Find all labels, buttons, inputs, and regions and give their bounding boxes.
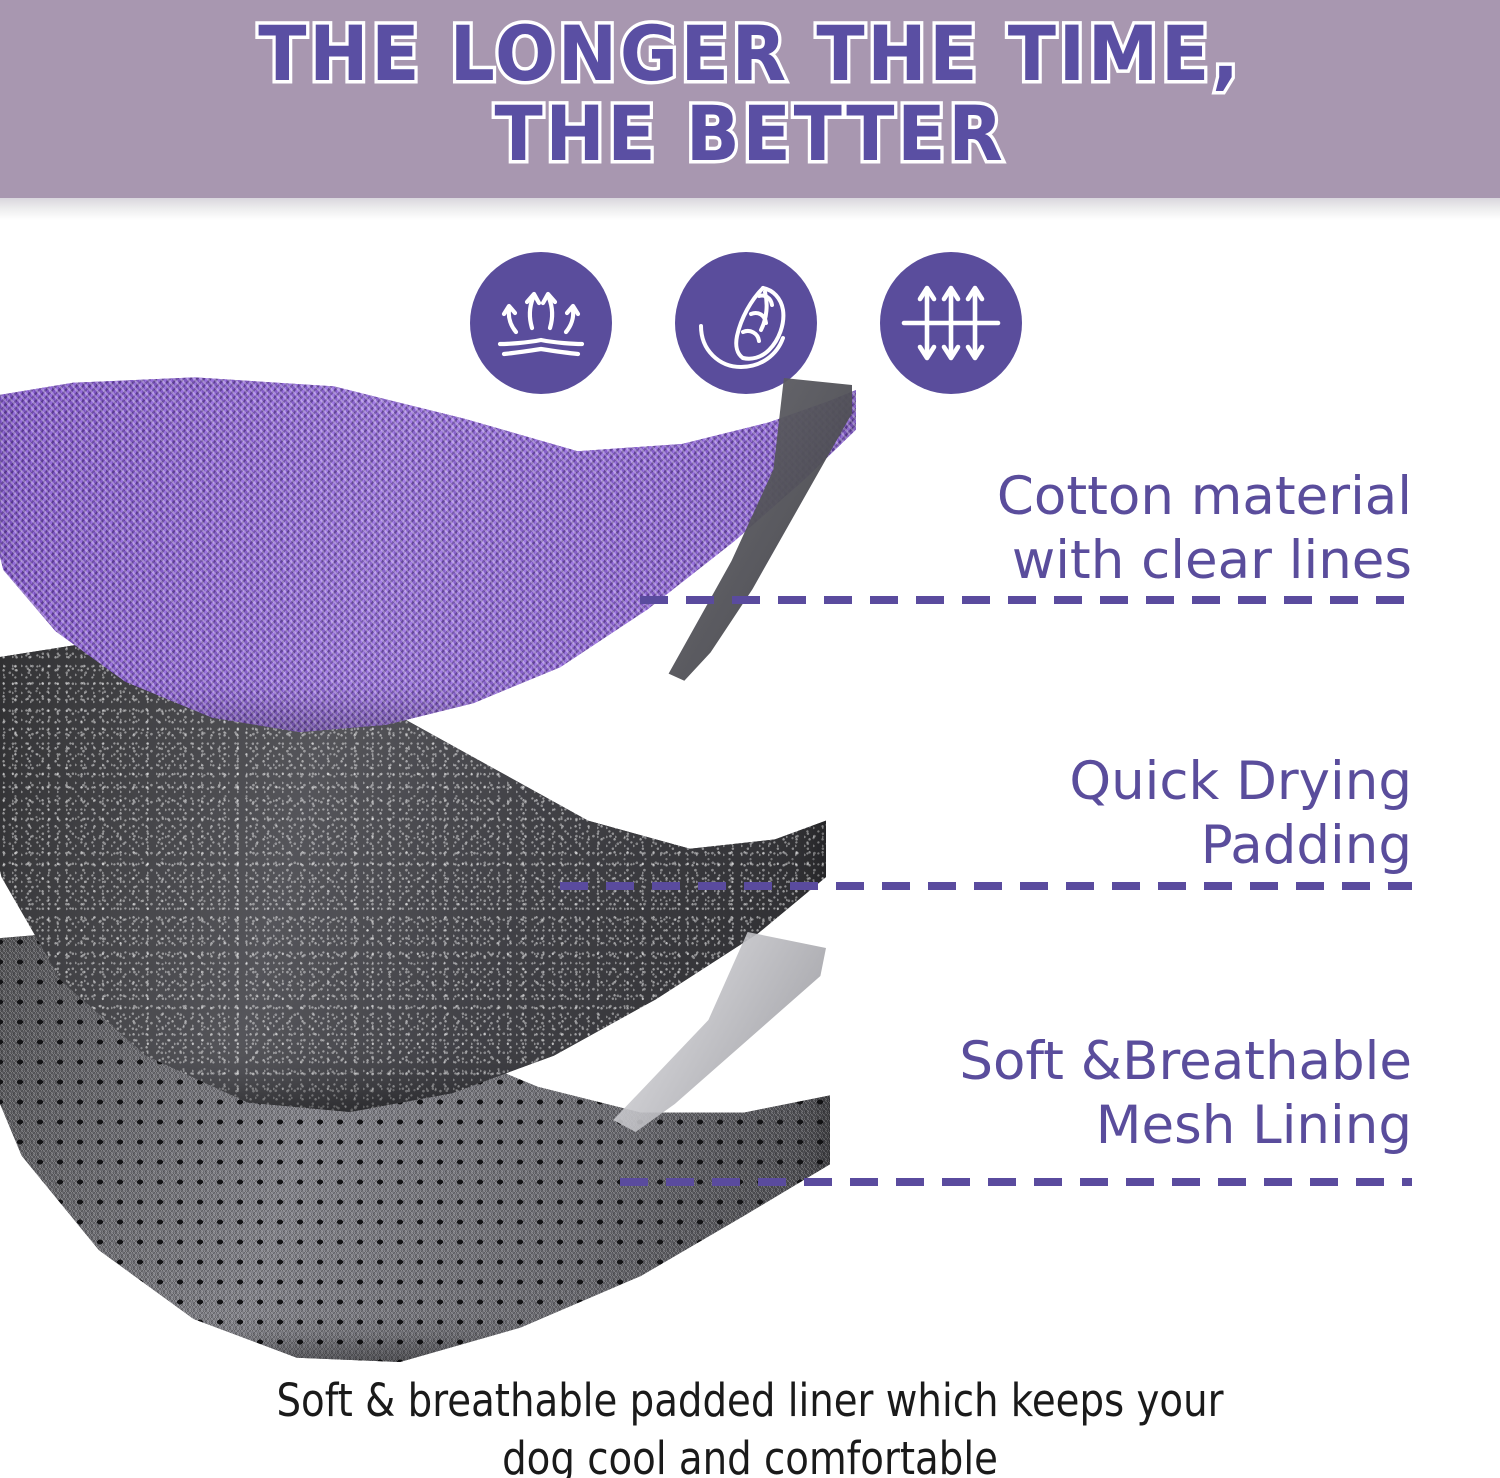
callout-connector-line-3 <box>620 1178 1412 1186</box>
header-sheen-divider <box>0 198 1500 220</box>
callout-quick-drying-padding: Quick Drying Padding <box>740 750 1412 878</box>
air-permeability-icon <box>880 252 1022 394</box>
product-infographic: THE LONGER THE TIME, THE BETTER <box>0 0 1500 1478</box>
callout-mesh-lining: Soft &Breathable Mesh Lining <box>740 1030 1412 1158</box>
callout-connector-line-2 <box>560 882 1412 890</box>
callout-cotton-material: Cotton material with clear lines <box>740 465 1412 593</box>
callout-connector-line-1 <box>640 596 1412 604</box>
page-title: THE LONGER THE TIME, THE BETTER <box>53 14 1448 174</box>
cotton-layer <box>0 372 856 732</box>
bottom-caption: Soft & breathable padded liner which kee… <box>105 1372 1395 1478</box>
layered-product-illustration <box>0 372 866 1367</box>
